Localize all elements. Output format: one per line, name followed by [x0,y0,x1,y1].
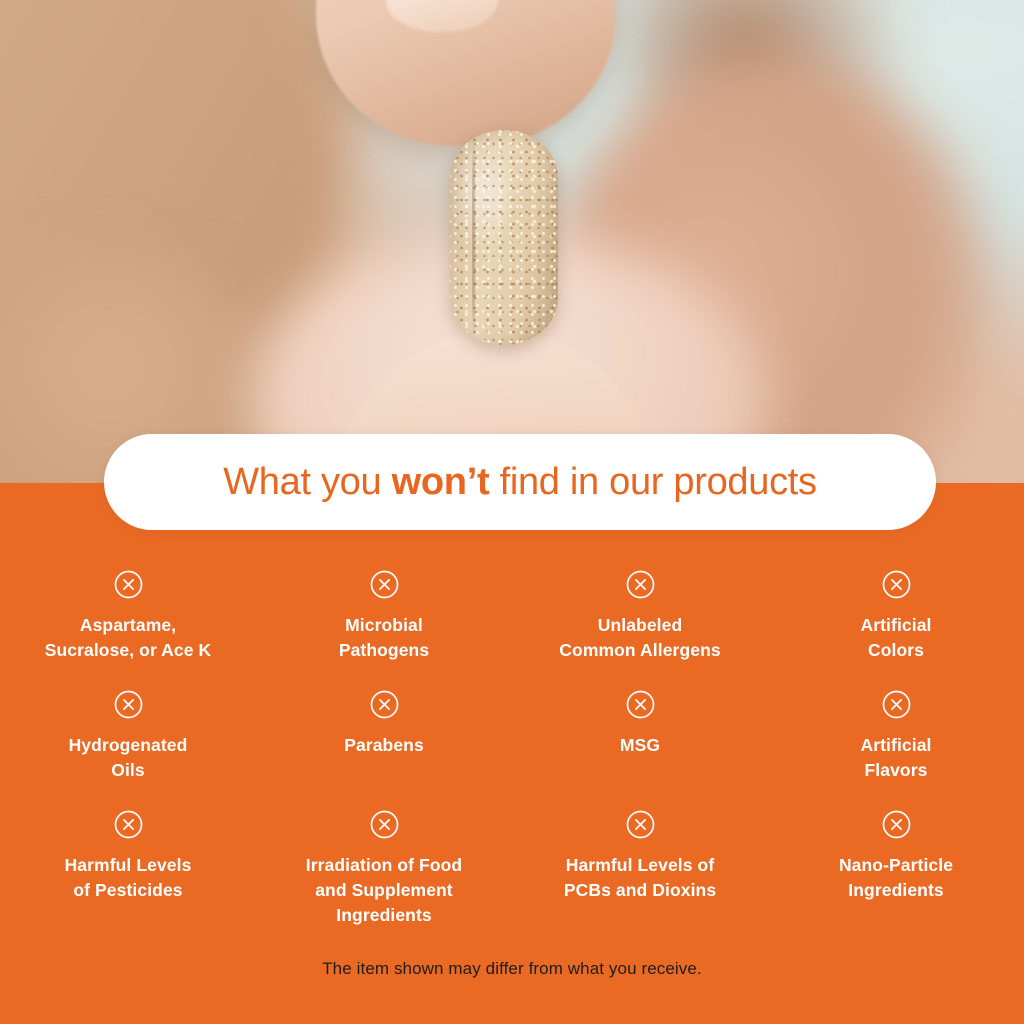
circle-x-icon [370,690,399,719]
title-pill: What you won’t find in our products [104,434,936,530]
circle-x-icon [114,810,143,839]
exclusion-item: Hydrogenated Oils [0,672,256,792]
circle-x-icon [882,690,911,719]
circle-x-icon [882,570,911,599]
exclusion-item: MSG [512,672,768,792]
page-title: What you won’t find in our products [223,461,817,504]
exclusion-label: Microbial Pathogens [339,613,429,663]
exclusion-label: MSG [620,733,660,758]
circle-x-icon [114,690,143,719]
circle-x-icon [626,810,655,839]
circle-x-icon [626,690,655,719]
exclusion-item: Microbial Pathogens [256,552,512,672]
exclusion-item: Irradiation of Food and Supplement Ingre… [256,792,512,922]
circle-x-icon [370,810,399,839]
exclusion-label: Artificial Flavors [860,733,931,783]
exclusion-label: Parabens [344,733,424,758]
circle-x-icon [370,570,399,599]
circle-x-icon [882,810,911,839]
exclusion-item: Nano-Particle Ingredients [768,792,1024,922]
exclusion-item: Unlabeled Common Allergens [512,552,768,672]
exclusion-label: Harmful Levels of Pesticides [65,853,192,903]
exclusion-item: Artificial Colors [768,552,1024,672]
exclusion-label: Irradiation of Food and Supplement Ingre… [306,853,462,928]
exclusion-item: Parabens [256,672,512,792]
exclusion-label: Artificial Colors [860,613,931,663]
exclusion-item: Artificial Flavors [768,672,1024,792]
title-text-before: What you [223,461,391,503]
exclusion-item: Harmful Levels of PCBs and Dioxins [512,792,768,922]
supplement-tablet [450,130,558,345]
hero-photo [0,0,1024,484]
exclusion-item: Harmful Levels of Pesticides [0,792,256,922]
title-text-emphasis: won’t [392,461,490,503]
exclusion-label: Harmful Levels of PCBs and Dioxins [564,853,716,903]
exclusion-item: Aspartame, Sucralose, or Ace K [0,552,256,672]
exclusion-label: Nano-Particle Ingredients [839,853,953,903]
exclusion-label: Aspartame, Sucralose, or Ace K [45,613,212,663]
exclusions-grid: Aspartame, Sucralose, or Ace K Microbial… [0,552,1024,922]
tablet-speckles [450,130,558,345]
disclaimer-text: The item shown may differ from what you … [0,959,1024,979]
product-claims-infographic: What you won’t find in our products Aspa… [0,0,1024,1024]
exclusion-label: Hydrogenated Oils [69,733,188,783]
circle-x-icon [114,570,143,599]
tablet-seam [472,134,475,342]
exclusion-label: Unlabeled Common Allergens [559,613,720,663]
title-text-after: find in our products [489,461,816,503]
circle-x-icon [626,570,655,599]
